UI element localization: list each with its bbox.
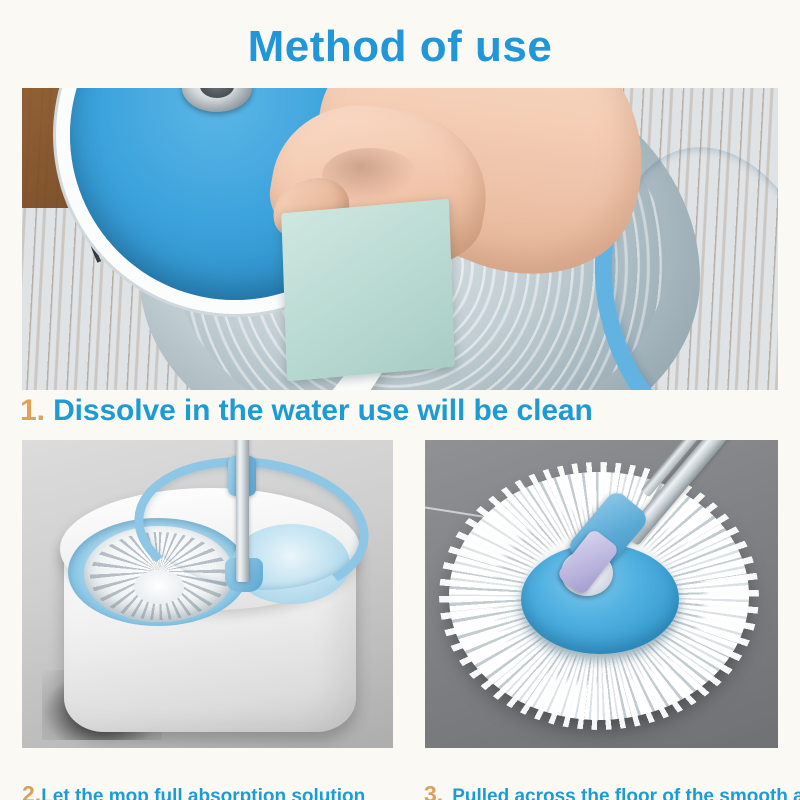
step-3-photo [425,440,778,748]
step-1-number: 1. [20,394,45,427]
step-1-photo [22,88,778,390]
step-2-caption: 2.Let the mop full absorption solution [22,781,365,800]
step-3-number: 3. [424,781,443,800]
step-1-text: Dissolve in the water use will be clean [53,394,593,427]
step-3-text: Pulled across the floor of the smooth as… [452,786,800,800]
step-3-caption: 3.Pulled across the floor of the smooth … [424,781,800,800]
step-1-caption: 1. Dissolve in the water use will be cle… [20,394,593,428]
bottom-caption-row: 2.Let the mop full absorption solution 3… [0,781,800,800]
step-2-photo [22,440,393,748]
product-instruction-page: Method of use 1. Dissolve in the water u… [0,0,800,800]
step-2-text: Let the mop full absorption solution [41,786,365,800]
mop-pole [236,440,249,582]
cleaning-tablet-sheet [281,199,454,382]
page-title: Method of use [0,22,800,72]
step-2-number: 2. [22,781,41,800]
